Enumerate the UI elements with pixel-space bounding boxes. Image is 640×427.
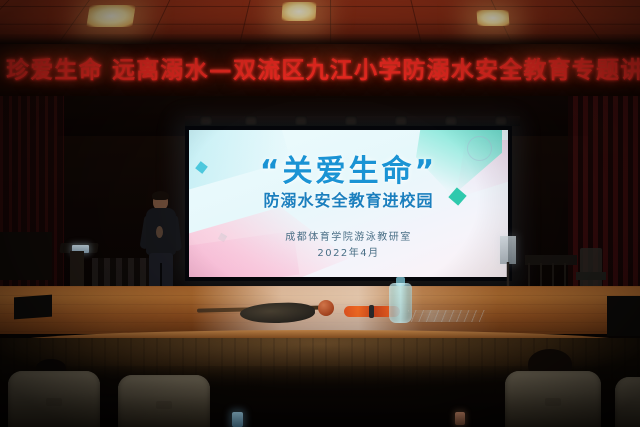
ceiling-light-3 — [476, 10, 509, 26]
rescue-rope-prop — [408, 310, 486, 322]
whiteboard-stand — [500, 262, 516, 288]
audience-phone-screen — [232, 412, 243, 427]
seat-shadow — [505, 371, 601, 427]
audience-foreground — [0, 366, 640, 427]
rescue-tube-strap — [369, 305, 374, 318]
rescue-ball-prop — [318, 300, 334, 316]
audience-seat — [505, 371, 601, 427]
stage-monitor-speaker-left — [14, 295, 52, 320]
audience-seat — [118, 375, 210, 427]
stage-light-fixture-5 — [395, 116, 407, 125]
slide-subtitle: 防溺水安全教育进校园 — [189, 187, 508, 211]
presenter-hair — [152, 191, 169, 200]
auditorium-photo: 珍爱生命 远离溺水—双流区九江小学防溺水安全教育专题讲座 “关爱生命” 防溺水 — [0, 0, 640, 427]
stage-left-table — [0, 232, 52, 280]
stage-light-fixture-1 — [200, 116, 212, 125]
ceiling-light-2 — [282, 2, 317, 21]
whiteboard — [500, 236, 516, 264]
slide-title: “关爱生命” — [189, 146, 508, 190]
stage-light-fixture-3 — [295, 116, 307, 125]
audience-device-glow — [455, 412, 465, 425]
event-banner: 珍爱生命 远离溺水—双流区九江小学防溺水安全教育专题讲座 — [0, 44, 640, 98]
stage-light-fixture-6 — [445, 116, 457, 125]
slide-organization: 成都体育学院游泳教研室 — [189, 228, 508, 243]
slide-date: 2022年4月 — [189, 244, 508, 259]
stage-light-fixture-2 — [245, 116, 257, 125]
banner-title-text: 珍爱生命 远离溺水—双流区九江小学防溺水安全教育专题讲座 — [6, 60, 640, 83]
seat-shadow — [8, 371, 100, 427]
stage-right-chair-seat — [576, 272, 606, 280]
audience-seat — [8, 371, 100, 427]
seat-shadow — [615, 377, 640, 427]
seat-shadow — [118, 375, 210, 427]
stage-light-fixture-4 — [345, 116, 357, 125]
ceiling — [0, 0, 640, 46]
projection-screen-frame: “关爱生命” 防溺水安全教育进校园 成都体育学院游泳教研室 2022年4月 — [185, 126, 512, 281]
audience-seat — [615, 377, 640, 427]
presenter-hand — [156, 226, 163, 238]
ceiling-light-1 — [86, 5, 135, 27]
projected-slide: “关爱生命” 防溺水安全教育进校园 成都体育学院游泳教研室 2022年4月 — [189, 130, 508, 277]
stage-light-fixture-7 — [495, 116, 507, 125]
stage-monitor-speaker-right — [607, 296, 640, 336]
